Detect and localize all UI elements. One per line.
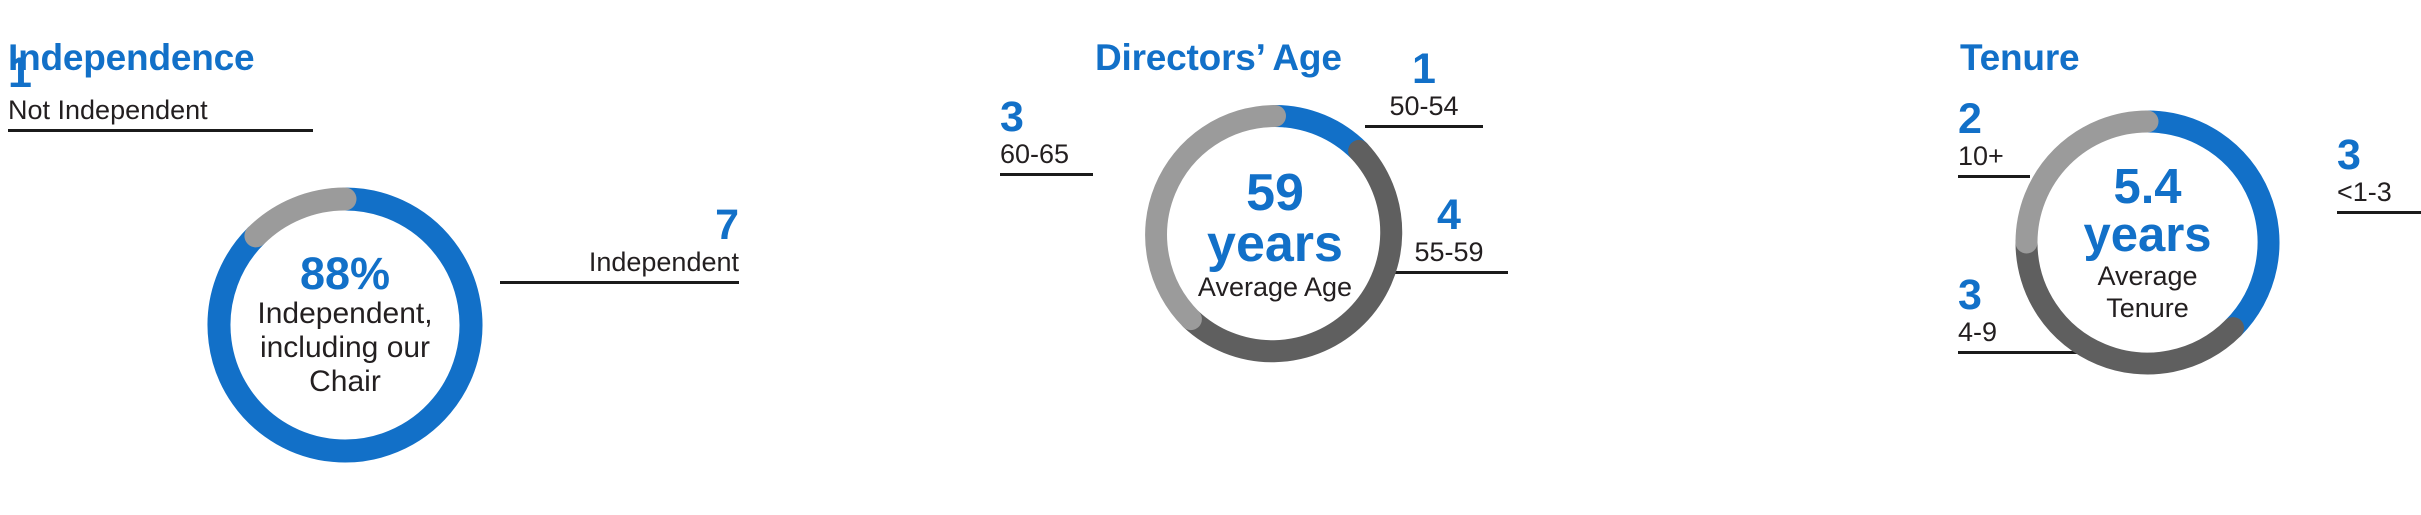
tenure-donut-chart: 5.4 years Average Tenure — [2005, 100, 2290, 385]
donut-segment-age-50-54 — [1275, 116, 1359, 151]
callout-category: 60-65 — [1000, 139, 1093, 173]
donut-segment-age-55-59 — [1191, 151, 1391, 351]
callout-category: <1-3 — [2337, 177, 2421, 211]
callout-age-60-65: 3 60-65 — [1000, 96, 1093, 176]
callout-category: Independent — [500, 247, 739, 281]
callout-number: 1 — [1365, 48, 1483, 91]
page-title-tenure: Tenure — [1960, 39, 2079, 76]
callout-rule — [2337, 211, 2421, 214]
callout-number: 1 — [8, 52, 313, 95]
callout-rule — [8, 129, 313, 132]
callout-not-independent: 1 Not Independent — [8, 52, 313, 132]
page-title-directors-age: Directors’ Age — [1095, 39, 1342, 76]
callout-number: 3 — [2337, 134, 2421, 177]
independence-panel: Independence 1 Not Independent 7 Indepen… — [0, 0, 1000, 515]
directors-age-panel: Directors’ Age 1 50-54 3 60-65 4 55-59 5… — [1000, 0, 1850, 515]
directors-age-donut-chart: 59 years Average Age — [1135, 95, 1415, 375]
donut-segment-age-60-65 — [1156, 116, 1275, 319]
callout-number: 3 — [1000, 96, 1093, 139]
callout-rule — [1000, 173, 1093, 176]
donut-segment-not-independent — [256, 199, 345, 236]
donut-segment-tenure-lt1-3 — [2148, 122, 2269, 329]
independence-donut-chart: 88% Independent, including our Chair — [195, 175, 495, 475]
callout-tenure-lt1-3: 3 <1-3 — [2337, 134, 2421, 214]
tenure-panel: Tenure 2 10+ 3 <1-3 3 4-9 5.4 years Aver… — [1850, 0, 2421, 515]
callout-independent: 7 Independent — [500, 204, 739, 284]
donut-segment-tenure-10-plus — [2027, 122, 2148, 243]
callout-category: Not Independent — [8, 95, 313, 129]
callout-number: 7 — [500, 204, 739, 247]
donut-segment-tenure-4-9 — [2027, 243, 2234, 364]
callout-rule — [500, 281, 739, 284]
